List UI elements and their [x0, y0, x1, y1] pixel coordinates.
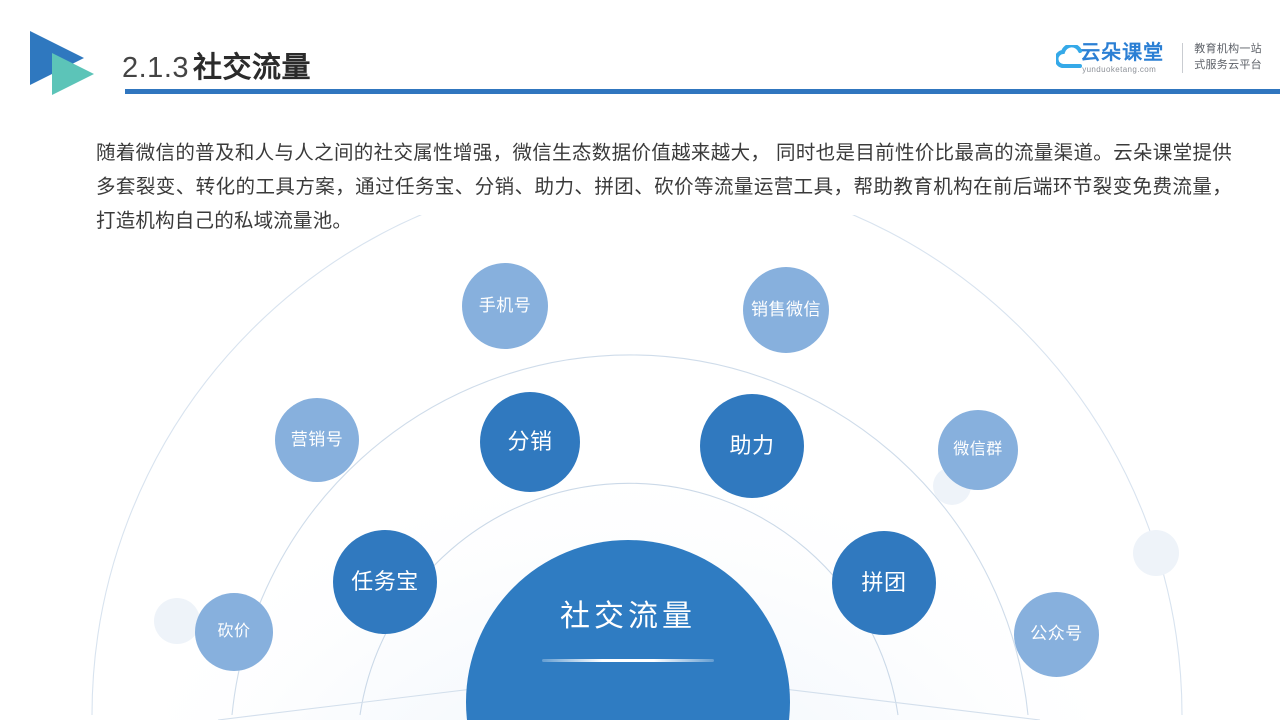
social-traffic-diagram: 砍价 营销号 手机号 销售微信 微信群 公众号 任务宝 分销 助力 拼团: [0, 215, 1280, 720]
brand-tagline: 教育机构一站 式服务云平台: [1194, 42, 1262, 74]
page-title-number: 2.1.3: [122, 52, 189, 84]
node-yingxiaohao[interactable]: 营销号: [275, 398, 359, 482]
brand-tagline-line1: 教育机构一站: [1194, 42, 1262, 58]
node-label: 任务宝: [351, 570, 419, 594]
node-fenxiao[interactable]: 分销: [480, 392, 580, 492]
brand-block: 云朵课堂 yunduoketang.com 教育机构一站 式服务云平台: [1056, 36, 1262, 80]
node-label: 助力: [729, 434, 774, 458]
node-label: 拼团: [861, 571, 906, 595]
core-node-label: 社交流量: [560, 600, 696, 633]
node-label: 手机号: [479, 297, 532, 316]
slide-header: 2.1.3社交流量 云朵课堂 yunduoketang.com 教育机构一站 式…: [0, 0, 1280, 108]
node-label: 公众号: [1030, 625, 1083, 644]
node-label: 砍价: [217, 623, 250, 641]
brand-divider: [1182, 43, 1183, 73]
title-underline-rule: [125, 89, 1280, 94]
brand-logo: 云朵课堂 yunduoketang.com: [1056, 43, 1178, 74]
page-title: 2.1.3社交流量: [122, 44, 311, 86]
node-pintuan[interactable]: 拼团: [832, 531, 936, 635]
brand-domain: yunduoketang.com: [1080, 66, 1164, 74]
core-underline: [542, 659, 714, 662]
node-shoujihao[interactable]: 手机号: [462, 263, 548, 349]
node-zhuli[interactable]: 助力: [700, 394, 804, 498]
node-gongzhonghao[interactable]: 公众号: [1014, 592, 1099, 677]
node-label: 销售微信: [751, 301, 821, 320]
slide: 2.1.3社交流量 云朵课堂 yunduoketang.com 教育机构一站 式…: [0, 0, 1280, 720]
decorative-circle-bottom-right: [1133, 530, 1179, 576]
cloud-icon: [1056, 45, 1086, 71]
page-title-text: 社交流量: [193, 52, 311, 84]
node-xiaoshouweixin[interactable]: 销售微信: [743, 267, 829, 353]
node-label: 营销号: [291, 431, 344, 450]
brand-name: 云朵课堂: [1080, 43, 1164, 63]
node-kanjia[interactable]: 砍价: [195, 593, 273, 671]
brand-text: 云朵课堂 yunduoketang.com: [1080, 43, 1164, 74]
node-renwubao[interactable]: 任务宝: [333, 530, 437, 634]
brand-tagline-line2: 式服务云平台: [1194, 58, 1262, 74]
node-label: 微信群: [953, 441, 1003, 459]
decorative-circle-left: [154, 598, 200, 644]
node-label: 分销: [507, 430, 552, 454]
node-weixinqun[interactable]: 微信群: [938, 410, 1018, 490]
triangle-logo-icon: [26, 29, 98, 97]
